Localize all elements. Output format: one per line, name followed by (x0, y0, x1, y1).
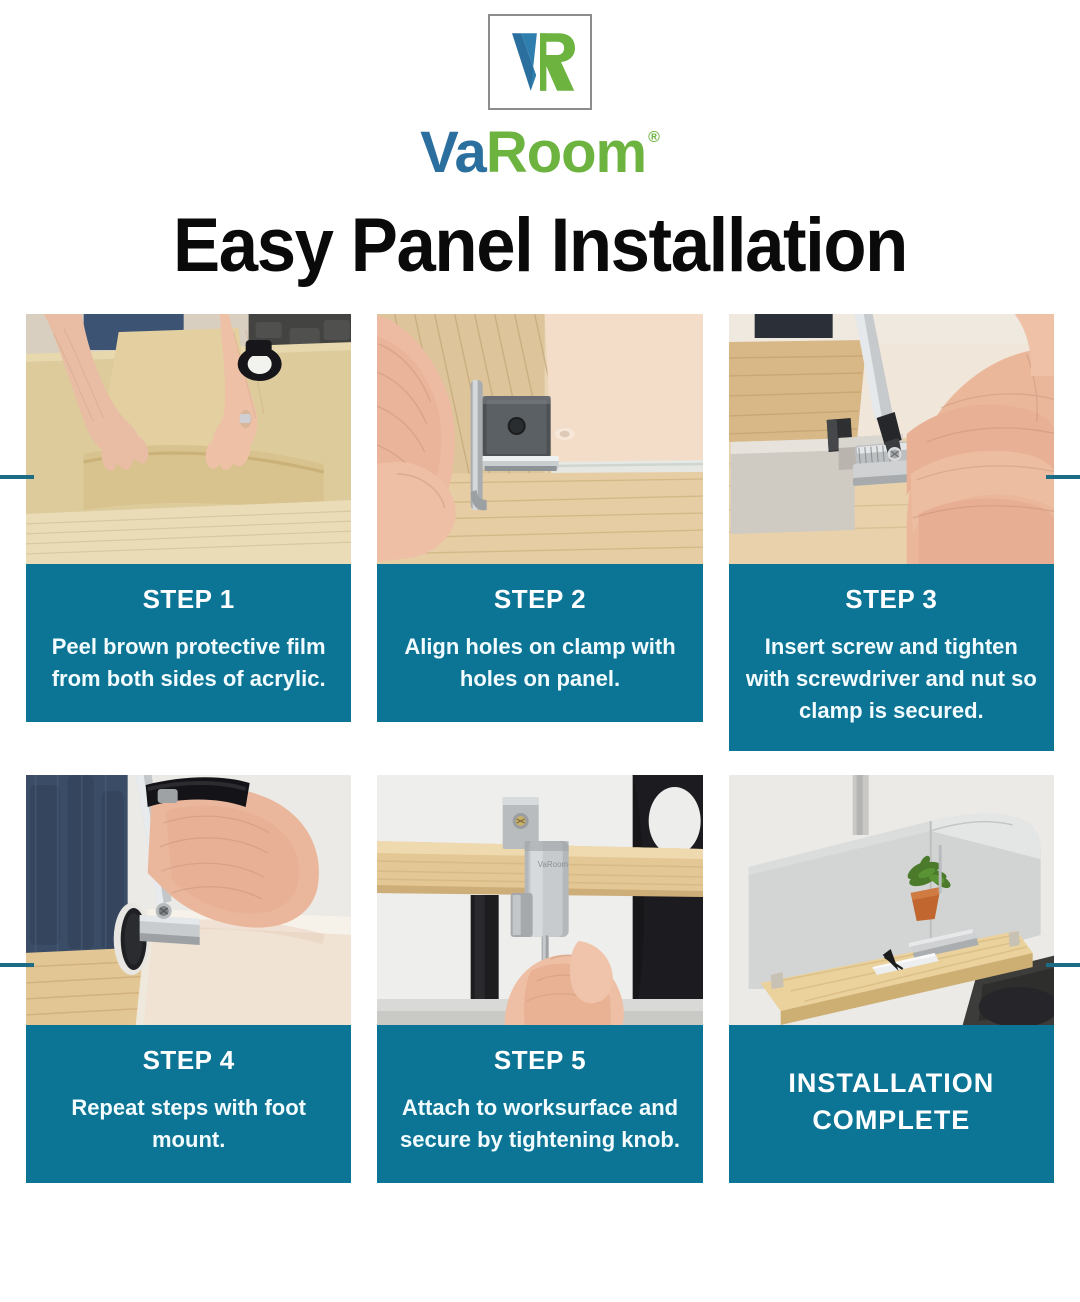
divider-rule-right-top (1046, 475, 1080, 479)
step-caption-4: STEP 4 Repeat steps with foot mount. (26, 1025, 351, 1183)
page-title: Easy Panel Installation (38, 208, 1042, 284)
step-card-5: VaRoom STEP 5 Attach to worksurface and … (377, 775, 702, 1183)
step-caption-2: STEP 2 Align holes on clamp with holes o… (377, 564, 702, 722)
varoom-wordmark: Va Room ® (420, 124, 660, 182)
steps-grid: STEP 1 Peel brown protective film from b… (26, 314, 1054, 1183)
step-caption-5: STEP 5 Attach to worksurface and secure … (377, 1025, 702, 1183)
step-description: Peel brown protective film from both sid… (40, 631, 337, 695)
step-label: STEP 1 (143, 584, 235, 615)
step-description: Repeat steps with foot mount. (40, 1092, 337, 1156)
step-label: STEP 2 (494, 584, 586, 615)
step-caption-3: STEP 3 Insert screw and tighten with scr… (729, 564, 1054, 751)
step-caption-6: INSTALLATION COMPLETE (729, 1025, 1054, 1183)
divider-rule-right-bottom (1046, 963, 1080, 967)
step-card-4: STEP 4 Repeat steps with foot mount. (26, 775, 351, 1183)
photo-attach-foot-mount (26, 775, 351, 1025)
step-card-3: STEP 3 Insert screw and tighten with scr… (729, 314, 1054, 751)
photo-peel-protective-film (26, 314, 351, 564)
step-card-2: STEP 2 Align holes on clamp with holes o… (377, 314, 702, 751)
wordmark-va: Va (420, 124, 486, 182)
step-label: STEP 3 (845, 584, 937, 615)
divider-rule-left-bottom (0, 963, 34, 967)
brand-header: Va Room ® (0, 0, 1080, 182)
step-caption-1: STEP 1 Peel brown protective film from b… (26, 564, 351, 722)
photo-installation-complete (729, 775, 1054, 1025)
step-label: INSTALLATION COMPLETE (743, 1065, 1040, 1138)
vr-monogram-icon (488, 14, 592, 110)
divider-rule-left-top (0, 475, 34, 479)
step-card-6: INSTALLATION COMPLETE (729, 775, 1054, 1183)
step-description: Attach to worksurface and secure by tigh… (391, 1092, 688, 1156)
svg-text:VaRoom: VaRoom (538, 860, 569, 869)
photo-insert-screw-tighten (729, 314, 1054, 564)
step-description: Insert screw and tighten with screwdrive… (743, 631, 1040, 727)
step-card-1: STEP 1 Peel brown protective film from b… (26, 314, 351, 751)
step-label: STEP 5 (494, 1045, 586, 1076)
step-description: Align holes on clamp with holes on panel… (391, 631, 688, 695)
photo-align-clamp-holes (377, 314, 702, 564)
wordmark-room: Room (486, 124, 646, 182)
registered-trademark-icon: ® (648, 130, 660, 146)
step-label: STEP 4 (143, 1045, 235, 1076)
photo-attach-to-worksurface: VaRoom (377, 775, 702, 1025)
